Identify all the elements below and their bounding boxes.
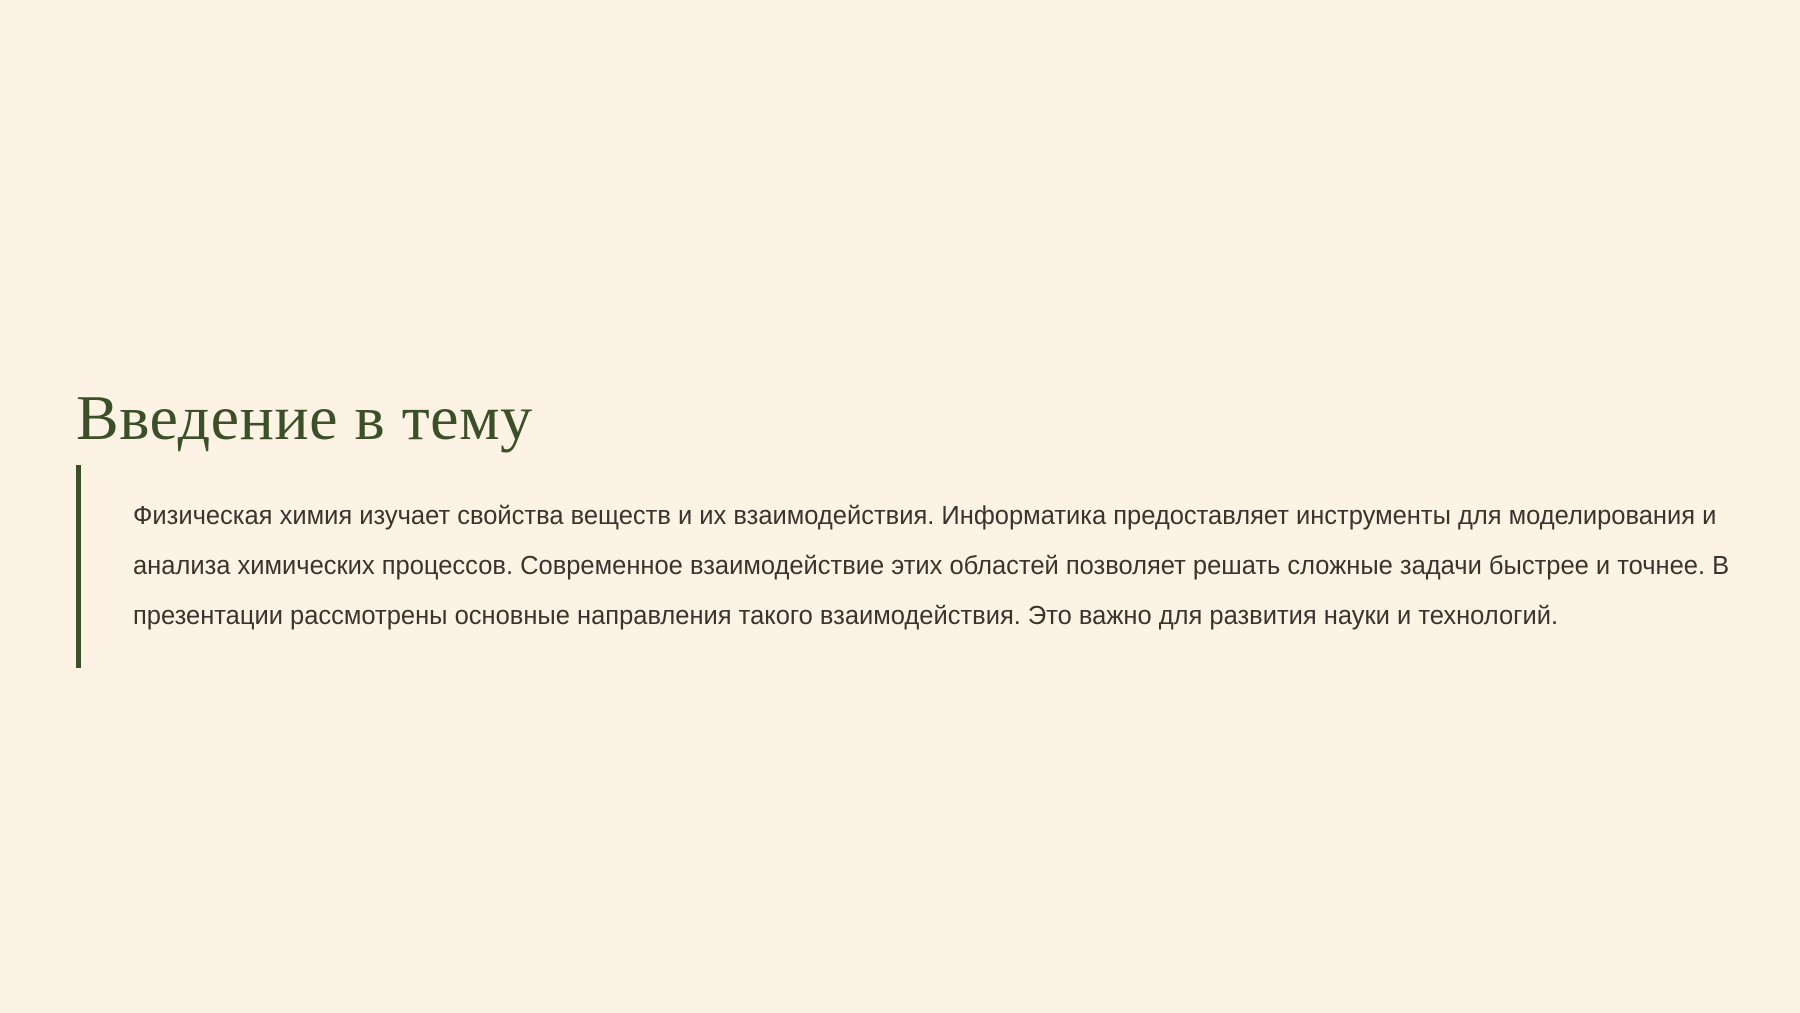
slide-content-area: Введение в тему Физическая химия изучает… — [0, 0, 1800, 1013]
page-title: Введение в тему — [76, 383, 533, 453]
body-paragraph: Физическая химия изучает свойства вещест… — [81, 491, 1766, 643]
presentation-slide: Введение в тему Физическая химия изучает… — [0, 0, 1800, 1013]
body-quote-block: Физическая химия изучает свойства вещест… — [76, 465, 1766, 668]
